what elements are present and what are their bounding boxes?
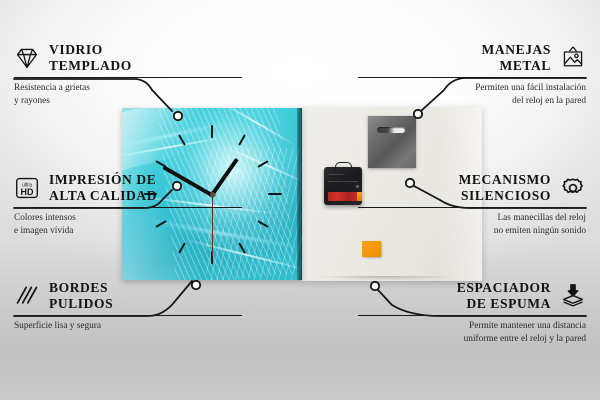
- feature-divider: [358, 315, 586, 317]
- feature-subtitle: Resistencia a grietas y rayones: [14, 82, 242, 107]
- battery: [328, 192, 358, 201]
- feature-divider: [358, 77, 586, 79]
- feature-title: IMPRESIÓN DE ALTA CALIDAD: [49, 172, 157, 204]
- glass-edge: [297, 108, 302, 280]
- feature-vidrio-templado: VIDRIO TEMPLADO Resistencia a grietas y …: [14, 42, 242, 107]
- svg-text:HD: HD: [21, 187, 34, 197]
- gear-icon: [560, 176, 586, 200]
- feature-mecanismo-silencioso: MECANISMO SILENCIOSO Las manecillas del …: [358, 172, 586, 237]
- feature-impresion-alta-calidad: ultra HD IMPRESIÓN DE ALTA CALIDAD Color…: [14, 172, 242, 237]
- infographic-canvas: VIDRIO TEMPLADO Resistencia a grietas y …: [0, 0, 600, 400]
- mechanism-hanging-loop: [335, 162, 352, 172]
- feature-bordes-pulidos: BORDES PULIDOS Superficie lisa y segura: [14, 280, 242, 333]
- clock-mechanism: [324, 167, 362, 205]
- foam-spacer-icon: [560, 284, 586, 308]
- feature-subtitle: Permiten una fácil instalación del reloj…: [358, 82, 586, 107]
- mechanism-detail-line: [328, 174, 344, 175]
- feature-title: MECANISMO SILENCIOSO: [459, 172, 551, 204]
- feature-header: MANEJAS METAL: [358, 42, 586, 74]
- feature-header: ESPACIADOR DE ESPUMA: [358, 280, 586, 312]
- feature-subtitle: Las manecillas del reloj no emiten ningú…: [358, 212, 586, 237]
- feature-divider: [14, 315, 242, 317]
- feature-title: BORDES PULIDOS: [49, 280, 113, 312]
- feature-title: VIDRIO TEMPLADO: [49, 42, 132, 74]
- metal-hanger: [368, 116, 416, 168]
- mechanism-detail-line: [328, 181, 358, 182]
- feature-espaciador-espuma: ESPACIADOR DE ESPUMA Permite mantener un…: [358, 280, 586, 345]
- diamond-icon: [14, 46, 40, 70]
- feature-header: VIDRIO TEMPLADO: [14, 42, 242, 74]
- feature-subtitle: Superficie lisa y segura: [14, 320, 242, 332]
- feature-manejas-metal: MANEJAS METAL Permiten una fácil instala…: [358, 42, 586, 107]
- feature-subtitle: Colores intensos e imagen vívida: [14, 212, 242, 237]
- picture-frame-hanger-icon: [560, 46, 586, 70]
- feature-divider: [14, 207, 242, 209]
- hanger-slot: [377, 127, 405, 133]
- feature-header: MECANISMO SILENCIOSO: [358, 172, 586, 204]
- hour-tick: [211, 125, 213, 138]
- polished-edges-icon: [14, 284, 40, 308]
- ultra-hd-icon: ultra HD: [14, 176, 40, 200]
- feature-title: ESPACIADOR DE ESPUMA: [457, 280, 551, 312]
- feature-subtitle: Permite mantener una distancia uniforme …: [358, 320, 586, 345]
- feature-header: ultra HD IMPRESIÓN DE ALTA CALIDAD: [14, 172, 242, 204]
- feature-title: MANEJAS METAL: [482, 42, 551, 74]
- feature-divider: [358, 207, 586, 209]
- feature-divider: [14, 77, 242, 79]
- foam-spacer: [362, 241, 381, 257]
- feature-header: BORDES PULIDOS: [14, 280, 242, 312]
